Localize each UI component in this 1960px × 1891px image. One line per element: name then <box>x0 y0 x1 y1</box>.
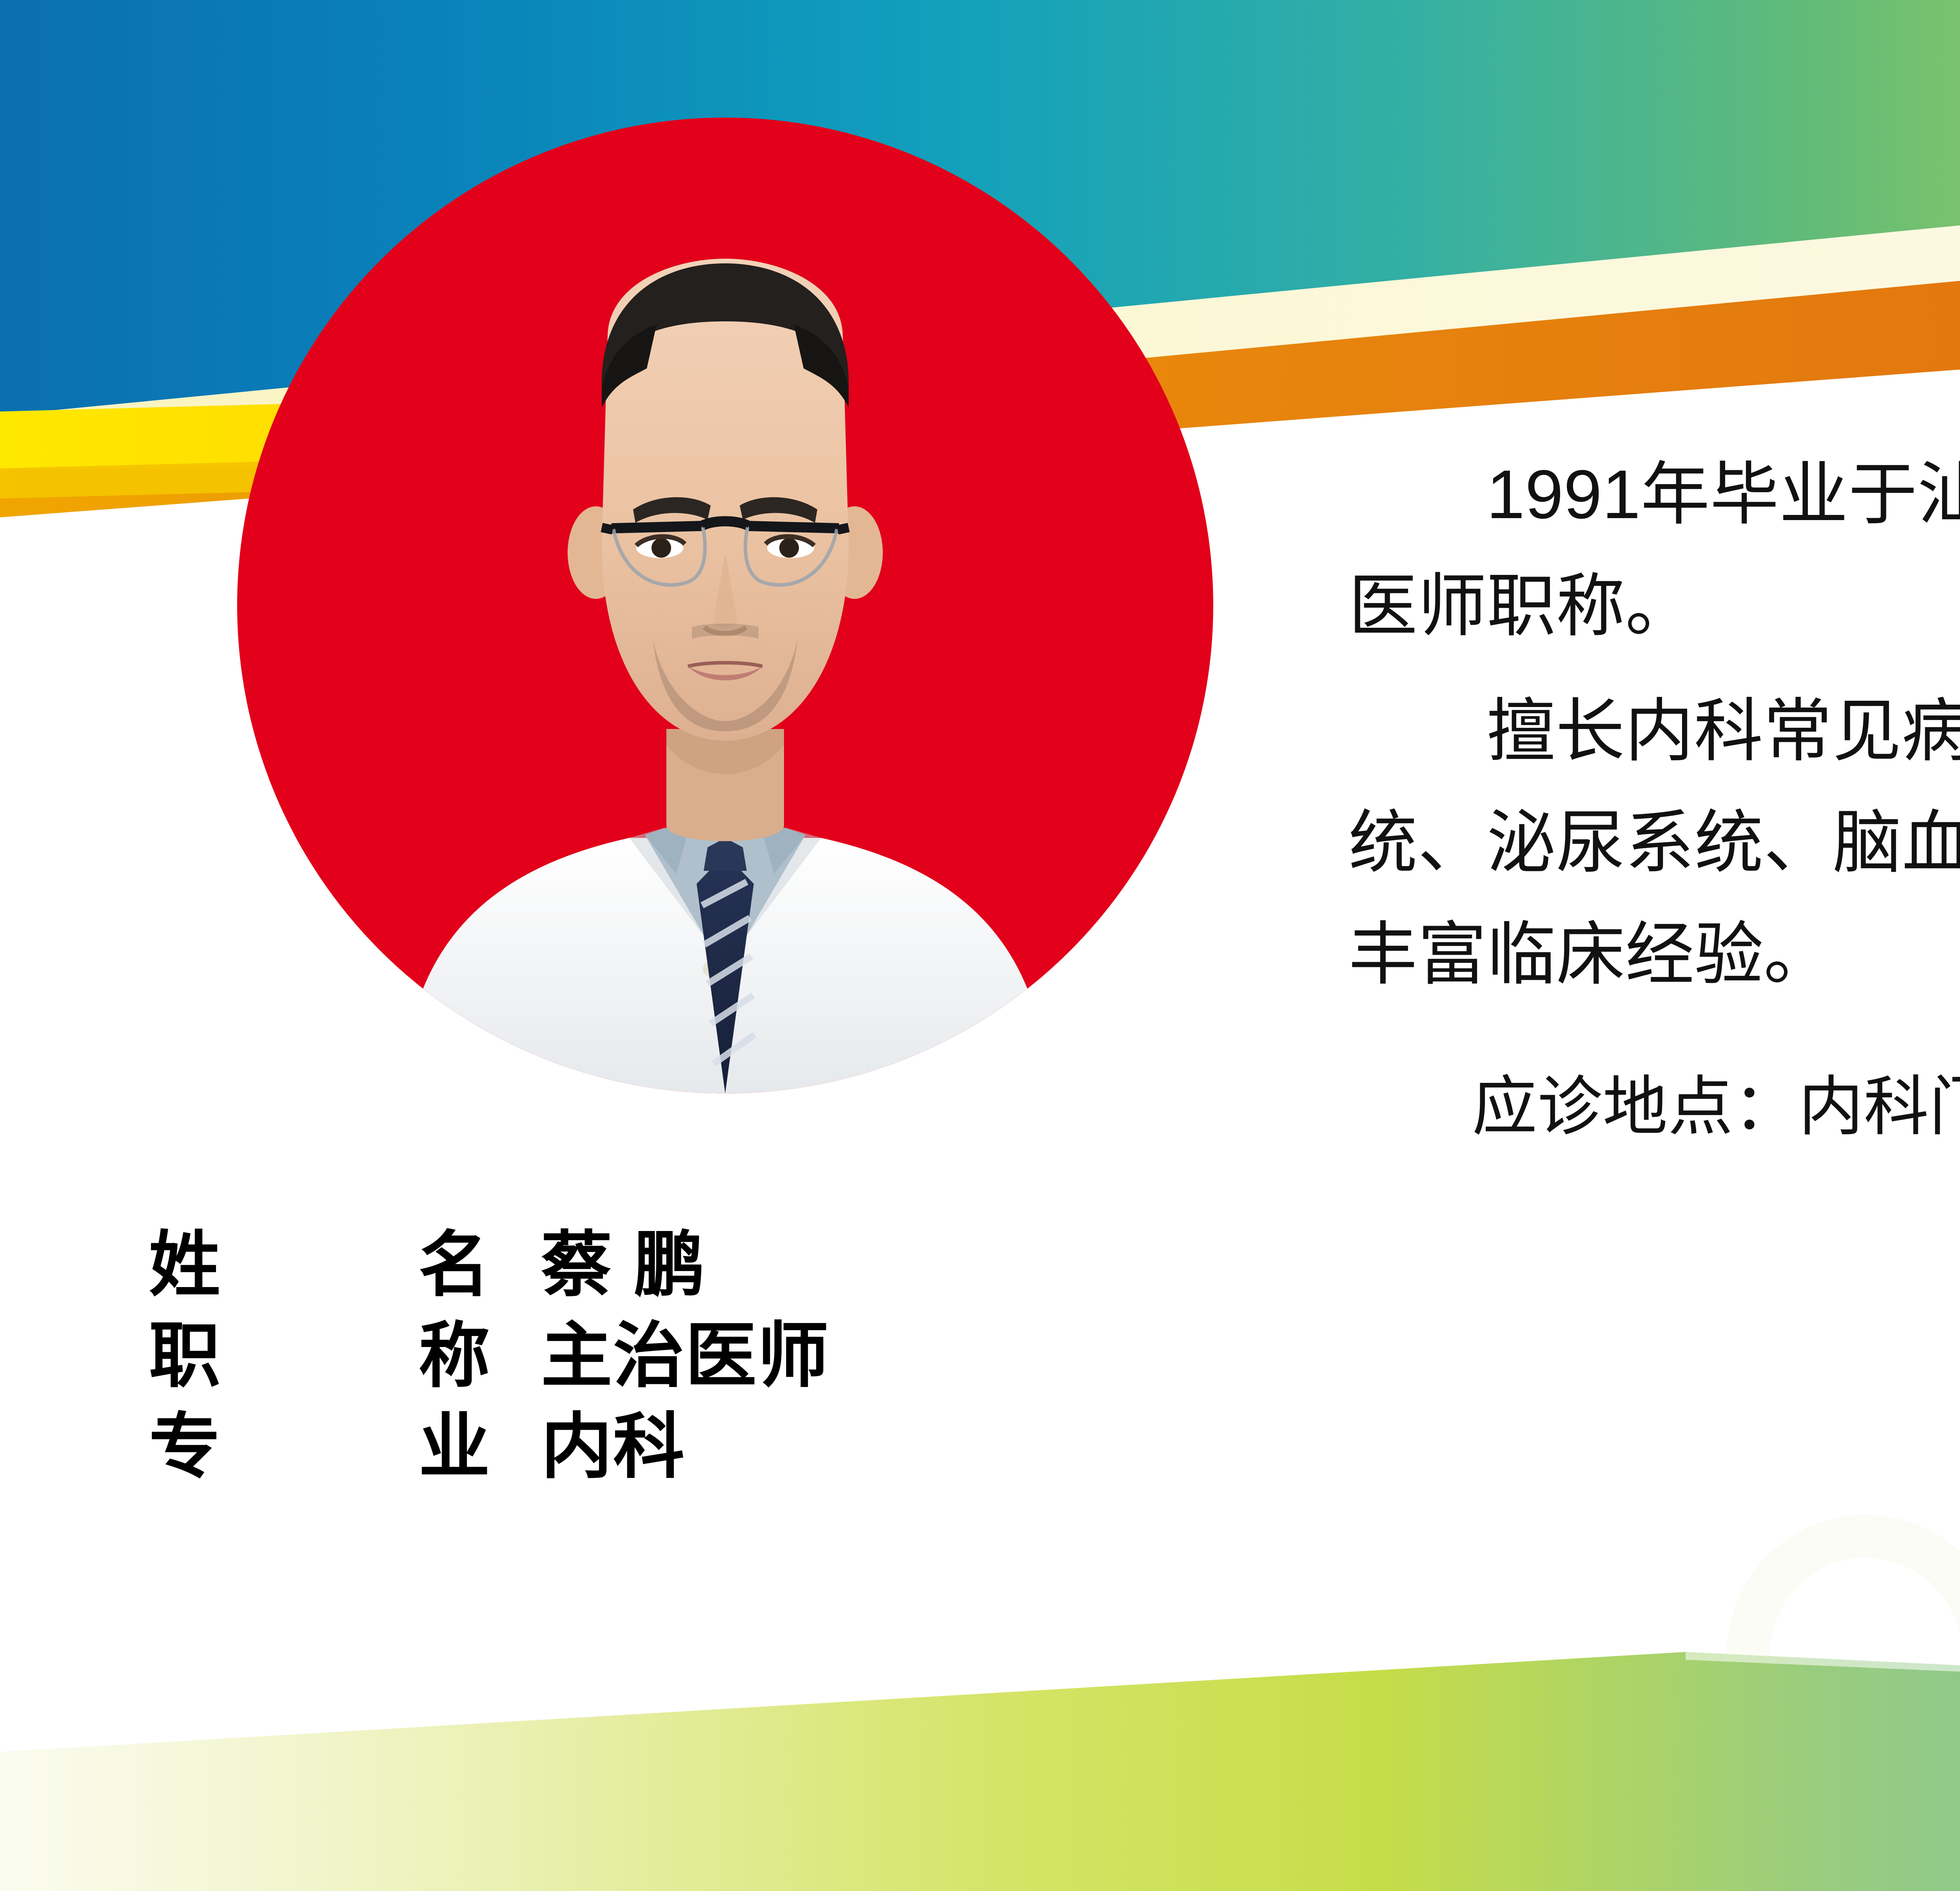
info-value-name: 蔡 鹏 <box>541 1207 706 1310</box>
info-value-specialty: 内科 <box>541 1389 685 1492</box>
doctor-info-table: 姓 名 蔡 鹏 职 称 主治医师 专 业 内科 <box>149 1207 1168 1480</box>
info-label-specialty-char-1: 专 <box>149 1389 220 1492</box>
bio-paragraph-1: 1991年毕业于汕大医学院，现为内科医师，主治医师职称。 <box>1348 439 1960 662</box>
portrait-container <box>237 118 1213 1093</box>
info-label-specialty: 专 业 <box>149 1389 541 1492</box>
doctor-photo <box>237 118 1213 1093</box>
clinic-location: 应诊地点：内科门诊(二) <box>1348 1058 1960 1156</box>
info-label-name-char-1: 姓 <box>149 1207 220 1310</box>
info-row-name: 姓 名 蔡 鹏 <box>149 1207 1168 1285</box>
info-value-title: 主治医师 <box>541 1298 829 1401</box>
bio-paragraph-2: 擅长内科常见病、多发病的诊治。尤其消化系统、泌尿系统、脑血管疾病、颈椎病、内分泌… <box>1348 676 1960 1011</box>
info-label-title-char-2: 称 <box>419 1298 490 1401</box>
portrait-red-backdrop <box>237 118 1213 1093</box>
info-label-name: 姓 名 <box>149 1207 541 1310</box>
info-row-title: 职 称 主治医师 <box>149 1298 1168 1376</box>
doctor-bio: 1991年毕业于汕大医学院，现为内科医师，主治医师职称。 擅长内科常见病、多发病… <box>1348 439 1960 1156</box>
doctor-profile-card: 1991年毕业于汕大医学院，现为内科医师，主治医师职称。 擅长内科常见病、多发病… <box>0 0 1960 1891</box>
info-row-specialty: 专 业 内科 <box>149 1389 1168 1467</box>
info-label-title: 职 称 <box>149 1298 541 1401</box>
info-label-specialty-char-2: 业 <box>419 1389 490 1492</box>
info-label-name-char-2: 名 <box>419 1207 490 1310</box>
info-label-title-char-1: 职 <box>149 1298 220 1401</box>
